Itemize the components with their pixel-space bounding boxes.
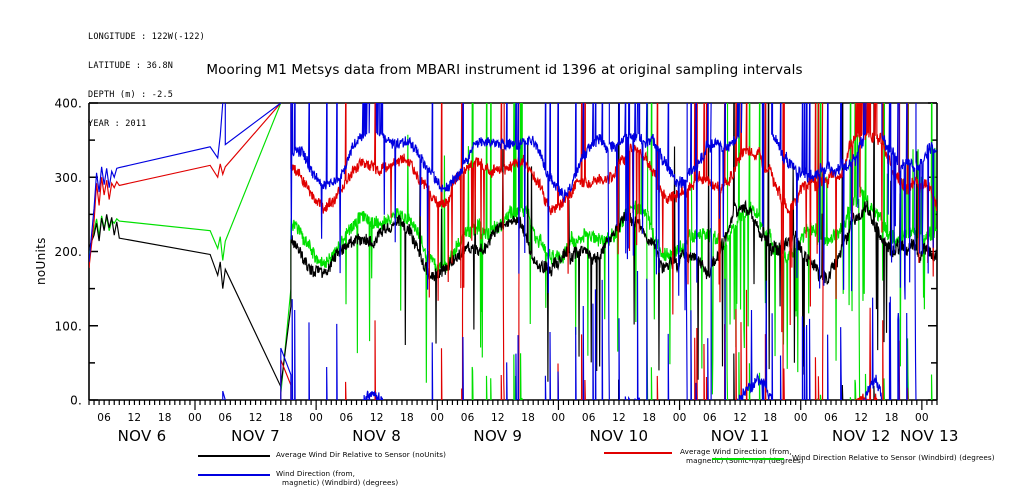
x-hour-label: 12 — [249, 412, 263, 424]
y-tick-label: 300. — [54, 171, 82, 185]
x-day-label: NOV 13 — [900, 427, 959, 445]
x-hour-label: 12 — [854, 412, 868, 424]
x-hour-label: 18 — [521, 412, 535, 424]
x-day-label: NOV 12 — [832, 427, 891, 445]
x-hour-label: 06 — [461, 412, 475, 424]
plot-area: 0.100.200.300.400.0612180006121800061218… — [0, 0, 1009, 504]
y-tick-label: 400. — [54, 97, 82, 111]
x-day-label: NOV 11 — [711, 427, 770, 445]
x-hour-label: 12 — [491, 412, 505, 424]
x-hour-label: 00 — [430, 412, 444, 424]
x-hour-label: 06 — [703, 412, 717, 424]
chart-page: LONGITUDE : 122W(-122) LATITUDE : 36.8N … — [0, 0, 1009, 504]
x-hour-label: 12 — [612, 412, 626, 424]
x-hour-label: 18 — [885, 412, 899, 424]
x-hour-label: 06 — [340, 412, 354, 424]
x-hour-label: 00 — [309, 412, 323, 424]
x-hour-label: 18 — [400, 412, 414, 424]
x-day-label: NOV 10 — [590, 427, 649, 445]
x-hour-label: 00 — [188, 412, 202, 424]
x-hour-label: 00 — [552, 412, 566, 424]
x-hour-label: 12 — [733, 412, 747, 424]
x-day-label: NOV 7 — [231, 427, 280, 445]
y-tick-label: 100. — [54, 319, 82, 333]
x-hour-label: 18 — [764, 412, 778, 424]
data-traces — [89, 103, 937, 400]
y-axis-title: noUnits — [34, 237, 48, 285]
x-hour-label: 12 — [370, 412, 384, 424]
x-hour-label: 06 — [824, 412, 838, 424]
x-hour-label: 00 — [673, 412, 687, 424]
x-day-label: NOV 8 — [352, 427, 401, 445]
timeseries-plot: 0.100.200.300.400.0612180006121800061218… — [0, 0, 1009, 504]
x-day-label: NOV 9 — [473, 427, 522, 445]
x-hour-label: 12 — [128, 412, 142, 424]
x-hour-label: 00 — [794, 412, 808, 424]
x-day-label: NOV 6 — [118, 427, 167, 445]
x-axis: 0612180006121800061218000612180006121800… — [89, 400, 959, 445]
x-hour-label: 06 — [582, 412, 596, 424]
x-hour-label: 18 — [642, 412, 656, 424]
y-tick-label: 200. — [54, 245, 82, 259]
x-hour-label: 00 — [915, 412, 929, 424]
x-hour-label: 06 — [218, 412, 232, 424]
x-hour-label: 18 — [279, 412, 293, 424]
x-hour-label: 06 — [97, 412, 111, 424]
y-tick-label: 0. — [70, 394, 82, 408]
x-hour-label: 18 — [158, 412, 172, 424]
